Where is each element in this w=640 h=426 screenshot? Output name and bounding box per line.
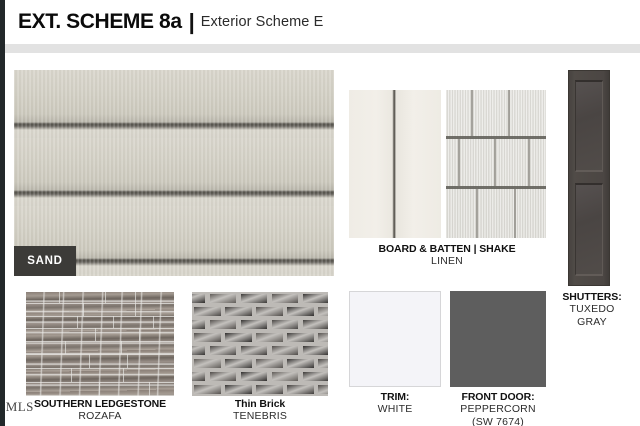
brick-unit xyxy=(303,320,328,329)
sand-badge-label: SAND xyxy=(27,255,62,267)
brick-unit xyxy=(225,359,252,368)
front-door-color-swatch xyxy=(450,291,546,387)
brick-unit xyxy=(303,346,328,355)
brick-unit xyxy=(241,320,268,329)
brick-unit xyxy=(256,359,283,368)
brick-unit xyxy=(318,333,328,342)
brick-unit xyxy=(192,294,205,303)
brick-unit xyxy=(192,372,205,381)
board-batten-shake-value: LINEN xyxy=(345,255,549,267)
sheet-header: EXT. SCHEME 8a | Exterior Scheme E xyxy=(0,0,640,44)
brick-unit xyxy=(287,307,314,316)
brick-unit xyxy=(256,333,283,342)
front-door-code: (SW 7674) xyxy=(446,416,550,426)
brick-unit xyxy=(241,346,268,355)
page-subtitle: Exterior Scheme E xyxy=(201,14,324,30)
brick-unit xyxy=(318,385,328,394)
front-door-value: PEPPERCORN xyxy=(446,403,550,415)
shake-swatch xyxy=(446,90,546,238)
brick-unit xyxy=(272,346,299,355)
brick-unit xyxy=(210,294,237,303)
front-door-label: FRONT DOOR: xyxy=(446,391,550,403)
brick-caption: Thin Brick TENEBRIS xyxy=(192,398,328,423)
brick-unit xyxy=(318,307,328,316)
brick-unit xyxy=(318,359,328,368)
board-batten-swatch xyxy=(349,90,441,238)
board-batten-shake-caption: BOARD & BATTEN | SHAKE LINEN xyxy=(345,243,549,268)
page-left-edge xyxy=(0,0,5,426)
shutters-value-line1: TUXEDO xyxy=(552,303,632,315)
status-badge-sand: SAND xyxy=(14,246,76,276)
brick-unit xyxy=(210,320,237,329)
shutters-swatch xyxy=(568,70,610,286)
stone-value: ROZAFA xyxy=(14,410,186,422)
brick-unit xyxy=(194,385,221,394)
page-title: EXT. SCHEME 8a xyxy=(18,10,182,34)
brick-unit xyxy=(272,372,299,381)
brick-unit xyxy=(194,359,221,368)
trim-label: TRIM: xyxy=(349,391,441,403)
brick-unit xyxy=(192,346,205,355)
front-door-caption: FRONT DOOR: PEPPERCORN (SW 7674) xyxy=(446,391,550,426)
brick-unit xyxy=(241,294,268,303)
brick-unit xyxy=(272,294,299,303)
brick-label: Thin Brick xyxy=(192,398,328,410)
brick-unit xyxy=(210,346,237,355)
brick-unit xyxy=(256,307,283,316)
brick-unit xyxy=(287,359,314,368)
shutter-upper-panel xyxy=(575,80,603,172)
brick-unit xyxy=(225,333,252,342)
brick-unit xyxy=(287,385,314,394)
brick-unit xyxy=(287,333,314,342)
shutters-value-line2: GRAY xyxy=(552,316,632,328)
brick-unit xyxy=(272,320,299,329)
brick-unit xyxy=(225,385,252,394)
trim-caption: TRIM: WHITE xyxy=(349,391,441,416)
brick-unit xyxy=(210,372,237,381)
brick-unit xyxy=(303,372,328,381)
stone-label: SOUTHERN LEDGESTONE xyxy=(14,398,186,410)
shutter-lower-panel xyxy=(575,183,603,276)
watermark-text: DMLS xyxy=(0,399,34,415)
brick-unit xyxy=(194,307,221,316)
shutters-label: SHUTTERS: xyxy=(552,291,632,303)
shutters-caption: SHUTTERS: TUXEDO GRAY xyxy=(552,291,632,328)
trim-color-swatch xyxy=(349,291,441,387)
brick-unit xyxy=(303,294,328,303)
exterior-scheme-board: EXT. SCHEME 8a | Exterior Scheme E SAND … xyxy=(0,0,640,426)
brick-swatch-thin-brick xyxy=(192,292,328,396)
stone-swatch-southern-ledgestone xyxy=(26,292,174,396)
stone-caption: SOUTHERN LEDGESTONE ROZAFA xyxy=(14,398,186,423)
brick-value: TENEBRIS xyxy=(192,410,328,422)
brick-unit xyxy=(192,320,205,329)
header-divider-band xyxy=(5,44,640,53)
brick-unit xyxy=(241,372,268,381)
title-divider: | xyxy=(189,11,195,33)
board-batten-shake-label: BOARD & BATTEN | SHAKE xyxy=(345,243,549,255)
trim-value: WHITE xyxy=(349,403,441,415)
brick-unit xyxy=(194,333,221,342)
brick-unit xyxy=(256,385,283,394)
brick-unit xyxy=(225,307,252,316)
